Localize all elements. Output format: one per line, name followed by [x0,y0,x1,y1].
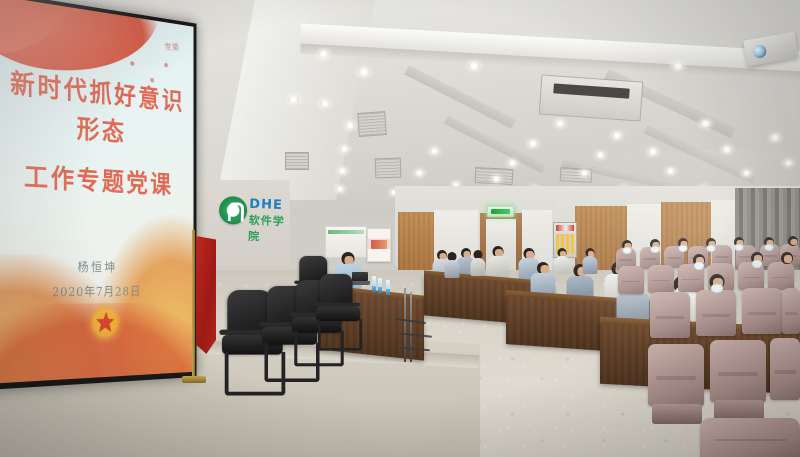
air-vent [285,152,309,170]
ceiling-downlight [742,170,751,176]
logo-latin-text: DHE [249,197,283,213]
slide-title-line2: 工作专题党课 [1,157,192,205]
water-bottle[interactable] [386,280,390,295]
ceiling-downlight [336,186,344,192]
attendee-face [790,239,797,245]
laptop-keyboard [350,281,370,285]
attendee-torso [471,258,486,276]
ceiling-downlight [358,68,370,76]
company-logo: DHE 软件学院 [218,192,285,234]
ceiling-downlight [508,160,517,166]
ceiling-downlight [320,100,330,107]
ceiling-downlight [612,132,622,139]
ceiling-downlight [580,170,589,176]
ceiling-downlight [338,168,347,174]
auditorium-seat[interactable] [742,288,782,334]
microphone-stand [404,288,406,362]
presenter-laptop [352,272,368,285]
face-mask-icon [651,246,660,253]
auditorium-seat[interactable] [696,290,736,336]
attendee-torso [555,256,570,274]
ceiling-downlight [700,120,711,127]
auditorium-seat[interactable] [648,265,674,293]
face-mask-icon [707,245,716,252]
attendee [704,238,718,252]
ceiling-downlight [318,50,329,58]
attendee [620,240,634,254]
projection-screen: 党徽 新时代抓好意识形态 工作专题党课 杨恒坤 2020年7月28日 [0,0,196,390]
attendee-face [784,255,792,263]
auditorium-seat[interactable] [648,344,704,406]
microphone-stand [410,292,412,362]
ceiling-downlight [648,148,658,155]
ceiling-downlight [555,120,565,127]
slide-presenter-name: 杨恒坤 [0,256,193,275]
attendee [786,236,800,250]
face-mask-icon [623,247,632,254]
exit-sign-icon [487,206,514,217]
attendee [676,238,690,252]
laptop-screen [352,272,368,281]
attendee-torso [445,260,460,278]
chair-legs [318,319,362,351]
ceiling-downlight [430,148,439,154]
wall-wood-panel [398,212,434,272]
attendee [706,274,728,296]
face-mask-icon [765,244,774,251]
slide-seal-text: 党徽 [117,43,180,53]
slide-date: 2020年7月28日 [0,282,193,301]
ceiling-downlight [340,146,349,152]
attendee [554,248,570,274]
water-bottle[interactable] [372,276,376,292]
face-mask-icon [752,260,762,268]
ceiling-downlight [345,122,355,129]
ceiling-downlight [672,62,684,70]
seat-base [652,404,702,424]
ceiling-downlight [528,140,538,147]
auditorium-seat[interactable] [782,288,800,334]
ceiling-downlight [666,168,675,174]
ceiling-downlight [288,96,299,103]
face-mask-icon [711,284,723,293]
ceiling-downlight [415,170,424,176]
ceiling-downlight [468,62,480,70]
presentation-slide: 党徽 新时代抓好意识形态 工作专题党课 杨恒坤 2020年7月28日 [0,0,193,384]
water-bottle[interactable] [378,278,382,293]
standing-poster [367,228,391,262]
air-vent [375,158,402,179]
attendee [778,252,796,270]
auditorium-seat[interactable] [710,340,766,402]
attendee [470,250,486,276]
attendee-torso [583,256,598,274]
attendee [444,252,460,278]
attendee [748,252,766,270]
face-mask-icon [735,244,744,251]
face-mask-icon [694,262,704,270]
attendee [582,248,598,274]
logo-circle-icon [219,196,248,225]
slide-title: 新时代抓好意识形态 工作专题党课 [1,64,192,206]
auditorium-seat[interactable] [770,338,800,400]
attendee [648,239,662,253]
face-mask-icon [679,245,688,252]
auditorium-seat[interactable] [650,292,690,338]
control-panel-header [556,225,574,231]
auditorium-seat[interactable] [700,418,800,457]
attendee [762,237,776,251]
ceiling-downlight [596,152,605,158]
ceiling-downlight [492,176,501,182]
attendee [732,237,746,251]
air-vent [357,111,387,137]
party-flag [196,236,216,354]
conference-hall-photo: DHE 软件学院 党徽 新时代抓好意识形态 工作专题党课 杨恒坤 2020年7月… [0,0,800,457]
flag-base [182,376,206,383]
ceiling-downlight [784,160,793,166]
attendee [690,254,708,272]
auditorium-seat[interactable] [618,266,644,294]
ceiling-downlight [722,146,732,153]
logo-chinese-text: 软件学院 [248,212,285,245]
ac-diffuser [539,74,644,121]
flag-pole [192,230,195,380]
ceiling-downlight [770,134,780,141]
